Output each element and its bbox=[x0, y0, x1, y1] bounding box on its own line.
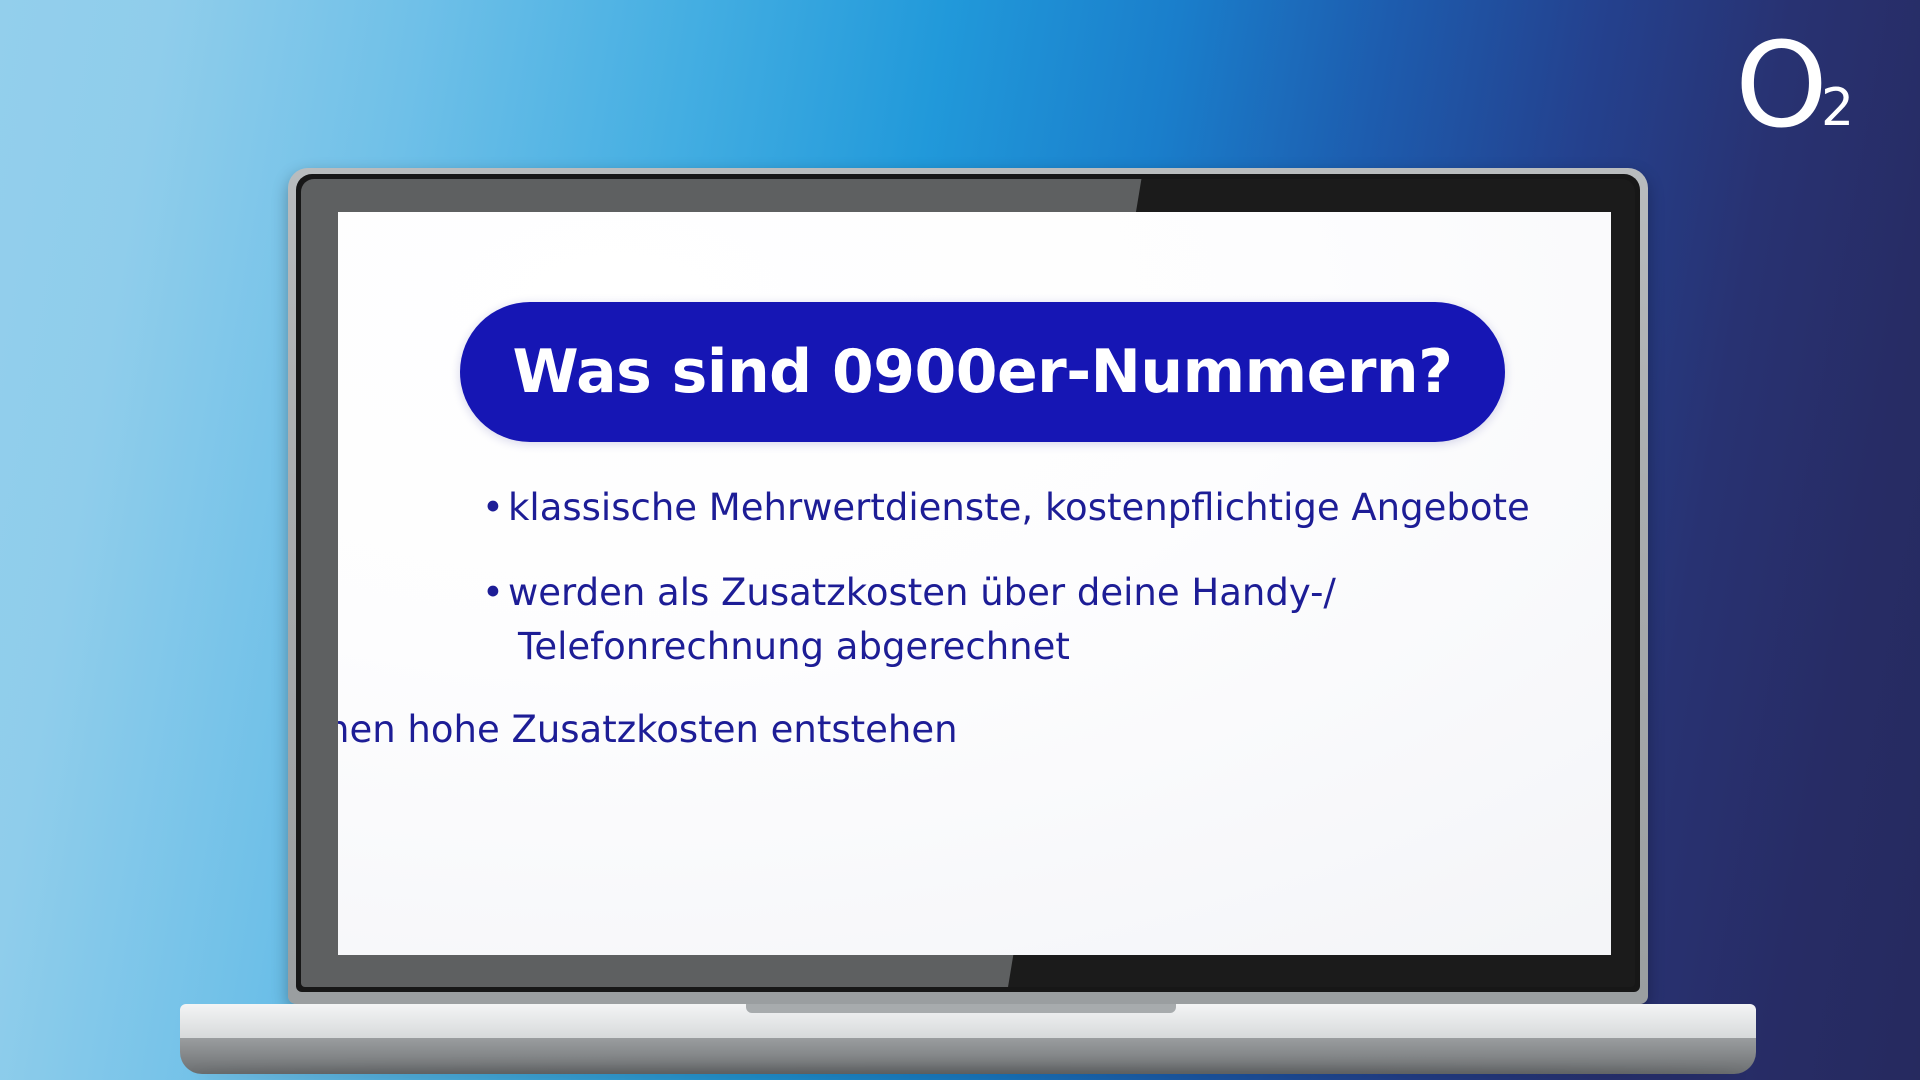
slide-stage: O 2 Was sind 0900er-Nummern? • klassisch… bbox=[0, 0, 1920, 1080]
o2-logo: O 2 bbox=[1735, 26, 1865, 141]
laptop-base-shadow bbox=[196, 1068, 1740, 1080]
slide-title: Was sind 0900er-Nummern? bbox=[513, 342, 1453, 402]
laptop-lid-shell bbox=[288, 168, 1648, 1004]
laptop-base-front bbox=[180, 1038, 1756, 1074]
slide-title-pill[interactable]: Was sind 0900er-Nummern? bbox=[460, 302, 1505, 442]
logo-letter-o: O bbox=[1735, 26, 1826, 144]
laptop-illustration: Was sind 0900er-Nummern? • klassische Me… bbox=[0, 0, 1920, 1080]
laptop-base-top bbox=[180, 1004, 1756, 1042]
laptop-base-notch bbox=[746, 1004, 1176, 1013]
logo-subscript-two: 2 bbox=[1821, 82, 1854, 134]
